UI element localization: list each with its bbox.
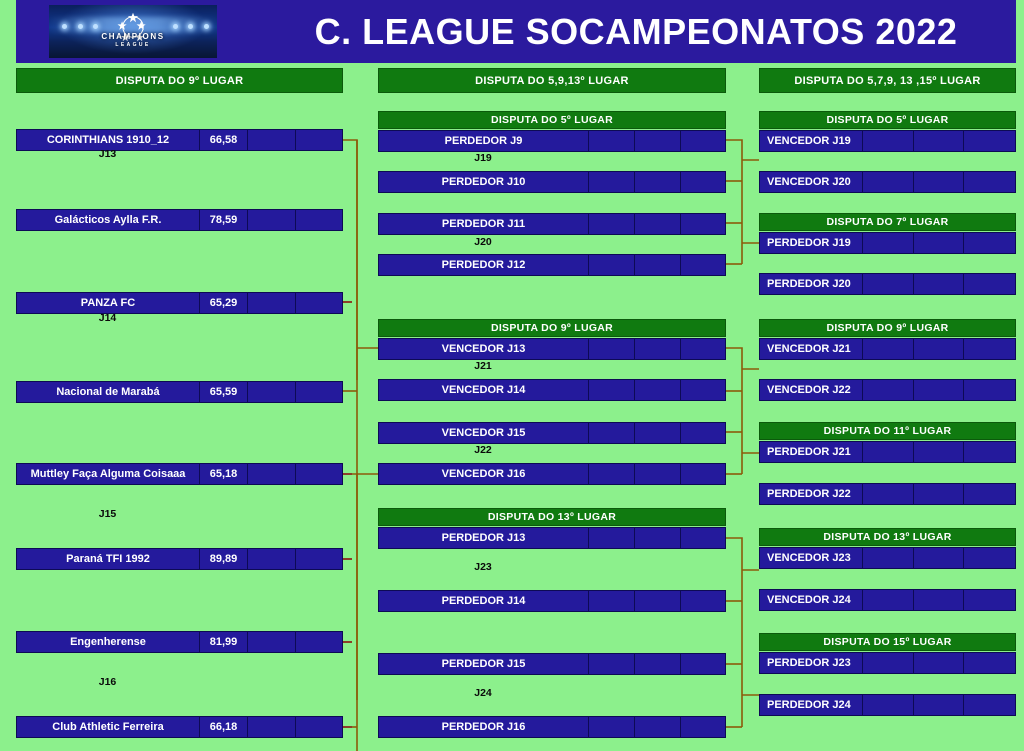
empty-cell xyxy=(635,654,681,674)
empty-cell xyxy=(863,172,914,192)
slot-name: VENCEDOR J13 xyxy=(379,339,589,359)
empty-cell xyxy=(635,255,681,275)
slot-name: PERDEDOR J22 xyxy=(760,484,863,504)
table-row[interactable]: PERDEDOR J22 xyxy=(759,483,1016,505)
table-row[interactable]: PERDEDOR J20 xyxy=(759,273,1016,295)
team-name: Galácticos Aylla F.R. xyxy=(17,210,200,230)
empty-cell xyxy=(635,591,681,611)
empty-cell xyxy=(681,380,725,400)
slot-name: VENCEDOR J15 xyxy=(379,423,589,443)
empty-cell xyxy=(914,233,965,253)
empty-cell xyxy=(863,695,914,715)
empty-cell xyxy=(635,380,681,400)
empty-cell xyxy=(863,274,914,294)
column-header-middle: DISPUTA DO 5,9,13º LUGAR xyxy=(378,68,726,93)
empty-cell xyxy=(589,464,635,484)
empty-cell xyxy=(863,339,914,359)
slot-name: VENCEDOR J20 xyxy=(760,172,863,192)
slot-name: VENCEDOR J19 xyxy=(760,131,863,151)
column-header-right: DISPUTA DO 5,7,9, 13 ,15º LUGAR xyxy=(759,68,1016,93)
table-row[interactable]: PERDEDOR J9 xyxy=(378,130,726,152)
empty-cell xyxy=(964,695,1015,715)
empty-cell xyxy=(914,131,965,151)
empty-cell xyxy=(914,339,965,359)
empty-cell xyxy=(635,339,681,359)
slot-name: PERDEDOR J24 xyxy=(760,695,863,715)
game-label: J16 xyxy=(16,676,199,688)
empty-cell xyxy=(681,423,725,443)
empty-cell xyxy=(863,131,914,151)
team-score: 66,18 xyxy=(200,717,248,737)
empty-cell xyxy=(248,549,296,569)
table-row[interactable]: Muttley Faça Alguma Coisaaa 65,18 xyxy=(16,463,343,485)
empty-cell xyxy=(248,130,296,150)
table-row[interactable]: Nacional de Marabá 65,59 xyxy=(16,381,343,403)
empty-cell xyxy=(914,172,965,192)
table-row[interactable]: Galácticos Aylla F.R. 78,59 xyxy=(16,209,343,231)
game-label: J14 xyxy=(16,312,199,324)
slot-name: PERDEDOR J19 xyxy=(760,233,863,253)
slot-name: VENCEDOR J14 xyxy=(379,380,589,400)
empty-cell xyxy=(681,591,725,611)
empty-cell xyxy=(863,590,914,610)
empty-cell xyxy=(589,423,635,443)
team-score: 66,58 xyxy=(200,130,248,150)
empty-cell xyxy=(964,233,1015,253)
slot-name: VENCEDOR J16 xyxy=(379,464,589,484)
table-row[interactable]: PERDEDOR J16 xyxy=(378,716,726,738)
table-row[interactable]: VENCEDOR J22 xyxy=(759,379,1016,401)
table-row[interactable]: Engenherense 81,99 xyxy=(16,631,343,653)
slot-name: PERDEDOR J13 xyxy=(379,528,589,548)
empty-cell xyxy=(248,293,296,313)
empty-cell xyxy=(914,548,965,568)
empty-cell xyxy=(589,654,635,674)
empty-cell xyxy=(248,632,296,652)
game-label: J23 xyxy=(378,561,588,573)
team-name: PANZA FC xyxy=(17,293,200,313)
page-title: C. LEAGUE SOCAMPEONATOS 2022 xyxy=(256,0,1016,63)
empty-cell xyxy=(914,484,965,504)
empty-cell xyxy=(296,210,342,230)
empty-cell xyxy=(296,632,342,652)
empty-cell xyxy=(248,210,296,230)
empty-cell xyxy=(681,717,725,737)
empty-cell xyxy=(589,131,635,151)
game-label: J20 xyxy=(378,236,588,248)
empty-cell xyxy=(863,380,914,400)
empty-cell xyxy=(635,172,681,192)
team-score: 81,99 xyxy=(200,632,248,652)
slot-name: PERDEDOR J14 xyxy=(379,591,589,611)
empty-cell xyxy=(635,528,681,548)
table-row[interactable]: VENCEDOR J13 xyxy=(378,338,726,360)
slot-name: PERDEDOR J16 xyxy=(379,717,589,737)
table-row[interactable]: VENCEDOR J23 xyxy=(759,547,1016,569)
table-row[interactable]: PERDEDOR J14 xyxy=(378,590,726,612)
empty-cell xyxy=(248,464,296,484)
empty-cell xyxy=(589,717,635,737)
empty-cell xyxy=(914,274,965,294)
slot-name: PERDEDOR J20 xyxy=(760,274,863,294)
empty-cell xyxy=(964,172,1015,192)
empty-cell xyxy=(964,380,1015,400)
empty-cell xyxy=(589,214,635,234)
empty-cell xyxy=(914,653,965,673)
slot-name: PERDEDOR J12 xyxy=(379,255,589,275)
empty-cell xyxy=(914,695,965,715)
empty-cell xyxy=(635,464,681,484)
table-row[interactable]: PERDEDOR J15 xyxy=(378,653,726,675)
empty-cell xyxy=(964,442,1015,462)
empty-cell xyxy=(681,214,725,234)
empty-cell xyxy=(863,442,914,462)
empty-cell xyxy=(589,172,635,192)
section-header: DISPUTA DO 9º LUGAR xyxy=(378,319,726,337)
empty-cell xyxy=(589,591,635,611)
empty-cell xyxy=(589,528,635,548)
table-row[interactable]: PERDEDOR J21 xyxy=(759,441,1016,463)
team-score: 65,18 xyxy=(200,464,248,484)
table-row[interactable]: VENCEDOR J24 xyxy=(759,589,1016,611)
section-header: DISPUTA DO 5º LUGAR xyxy=(378,111,726,129)
game-label: J13 xyxy=(16,148,199,160)
section-header: DISPUTA DO 11º LUGAR xyxy=(759,422,1016,440)
slot-name: PERDEDOR J23 xyxy=(760,653,863,673)
empty-cell xyxy=(296,549,342,569)
empty-cell xyxy=(681,654,725,674)
table-row[interactable]: PERDEDOR J10 xyxy=(378,171,726,193)
table-row[interactable]: PERDEDOR J13 xyxy=(378,527,726,549)
empty-cell xyxy=(914,442,965,462)
empty-cell xyxy=(681,255,725,275)
empty-cell xyxy=(914,590,965,610)
slot-name: PERDEDOR J21 xyxy=(760,442,863,462)
table-row[interactable]: VENCEDOR J20 xyxy=(759,171,1016,193)
empty-cell xyxy=(635,717,681,737)
team-score: 65,29 xyxy=(200,293,248,313)
empty-cell xyxy=(635,214,681,234)
empty-cell xyxy=(964,548,1015,568)
team-name: Paraná TFI 1992 xyxy=(17,549,200,569)
table-row[interactable]: PERDEDOR J12 xyxy=(378,254,726,276)
empty-cell xyxy=(296,717,342,737)
team-score: 89,89 xyxy=(200,549,248,569)
empty-cell xyxy=(296,382,342,402)
empty-cell xyxy=(681,172,725,192)
slot-name: PERDEDOR J11 xyxy=(379,214,589,234)
empty-cell xyxy=(589,380,635,400)
table-row[interactable]: Paraná TFI 1992 89,89 xyxy=(16,548,343,570)
empty-cell xyxy=(296,293,342,313)
table-row[interactable]: VENCEDOR J14 xyxy=(378,379,726,401)
empty-cell xyxy=(248,382,296,402)
slot-name: PERDEDOR J9 xyxy=(379,131,589,151)
logo-caption: CHAMPIONS LEAGUE xyxy=(49,32,217,48)
team-name: CORINTHIANS 1910_12 xyxy=(17,130,200,150)
game-label: J21 xyxy=(378,360,588,372)
table-row[interactable]: VENCEDOR J15 xyxy=(378,422,726,444)
empty-cell xyxy=(863,548,914,568)
empty-cell xyxy=(635,423,681,443)
section-header: DISPUTA DO 7º LUGAR xyxy=(759,213,1016,231)
empty-cell xyxy=(964,274,1015,294)
empty-cell xyxy=(296,464,342,484)
empty-cell xyxy=(681,339,725,359)
game-label: J24 xyxy=(378,687,588,699)
slot-name: VENCEDOR J23 xyxy=(760,548,863,568)
empty-cell xyxy=(589,339,635,359)
team-score: 78,59 xyxy=(200,210,248,230)
section-header: DISPUTA DO 13º LUGAR xyxy=(759,528,1016,546)
game-label: J19 xyxy=(378,152,588,164)
empty-cell xyxy=(681,131,725,151)
page-header: CHAMPIONS LEAGUE C. LEAGUE SOCAMPEONATOS… xyxy=(16,0,1016,63)
empty-cell xyxy=(681,528,725,548)
empty-cell xyxy=(914,380,965,400)
champions-league-logo: CHAMPIONS LEAGUE xyxy=(49,5,217,58)
empty-cell xyxy=(248,717,296,737)
empty-cell xyxy=(681,464,725,484)
table-row[interactable]: PANZA FC 65,29 xyxy=(16,292,343,314)
empty-cell xyxy=(964,339,1015,359)
empty-cell xyxy=(635,131,681,151)
section-header: DISPUTA DO 13º LUGAR xyxy=(378,508,726,526)
section-header: DISPUTA DO 9º LUGAR xyxy=(759,319,1016,337)
game-label: J22 xyxy=(378,444,588,456)
empty-cell xyxy=(589,255,635,275)
table-row[interactable]: PERDEDOR J24 xyxy=(759,694,1016,716)
slot-name: PERDEDOR J15 xyxy=(379,654,589,674)
table-row[interactable]: VENCEDOR J19 xyxy=(759,130,1016,152)
team-name: Club Athletic Ferreira xyxy=(17,717,200,737)
empty-cell xyxy=(863,653,914,673)
team-name: Engenherense xyxy=(17,632,200,652)
table-row[interactable]: PERDEDOR J23 xyxy=(759,652,1016,674)
empty-cell xyxy=(964,484,1015,504)
empty-cell xyxy=(964,131,1015,151)
table-row[interactable]: VENCEDOR J16 xyxy=(378,463,726,485)
column-header-left: DISPUTA DO 9º LUGAR xyxy=(16,68,343,93)
slot-name: PERDEDOR J10 xyxy=(379,172,589,192)
section-header: DISPUTA DO 15º LUGAR xyxy=(759,633,1016,651)
team-name: Nacional de Marabá xyxy=(17,382,200,402)
slot-name: VENCEDOR J24 xyxy=(760,590,863,610)
empty-cell xyxy=(863,233,914,253)
empty-cell xyxy=(296,130,342,150)
table-row[interactable]: PERDEDOR J19 xyxy=(759,232,1016,254)
section-header: DISPUTA DO 5º LUGAR xyxy=(759,111,1016,129)
table-row[interactable]: VENCEDOR J21 xyxy=(759,338,1016,360)
table-row[interactable]: Club Athletic Ferreira 66,18 xyxy=(16,716,343,738)
game-label: J15 xyxy=(16,508,199,520)
table-row[interactable]: PERDEDOR J11 xyxy=(378,213,726,235)
empty-cell xyxy=(964,653,1015,673)
team-score: 65,59 xyxy=(200,382,248,402)
slot-name: VENCEDOR J22 xyxy=(760,380,863,400)
slot-name: VENCEDOR J21 xyxy=(760,339,863,359)
empty-cell xyxy=(964,590,1015,610)
team-name: Muttley Faça Alguma Coisaaa xyxy=(17,464,200,484)
empty-cell xyxy=(863,484,914,504)
